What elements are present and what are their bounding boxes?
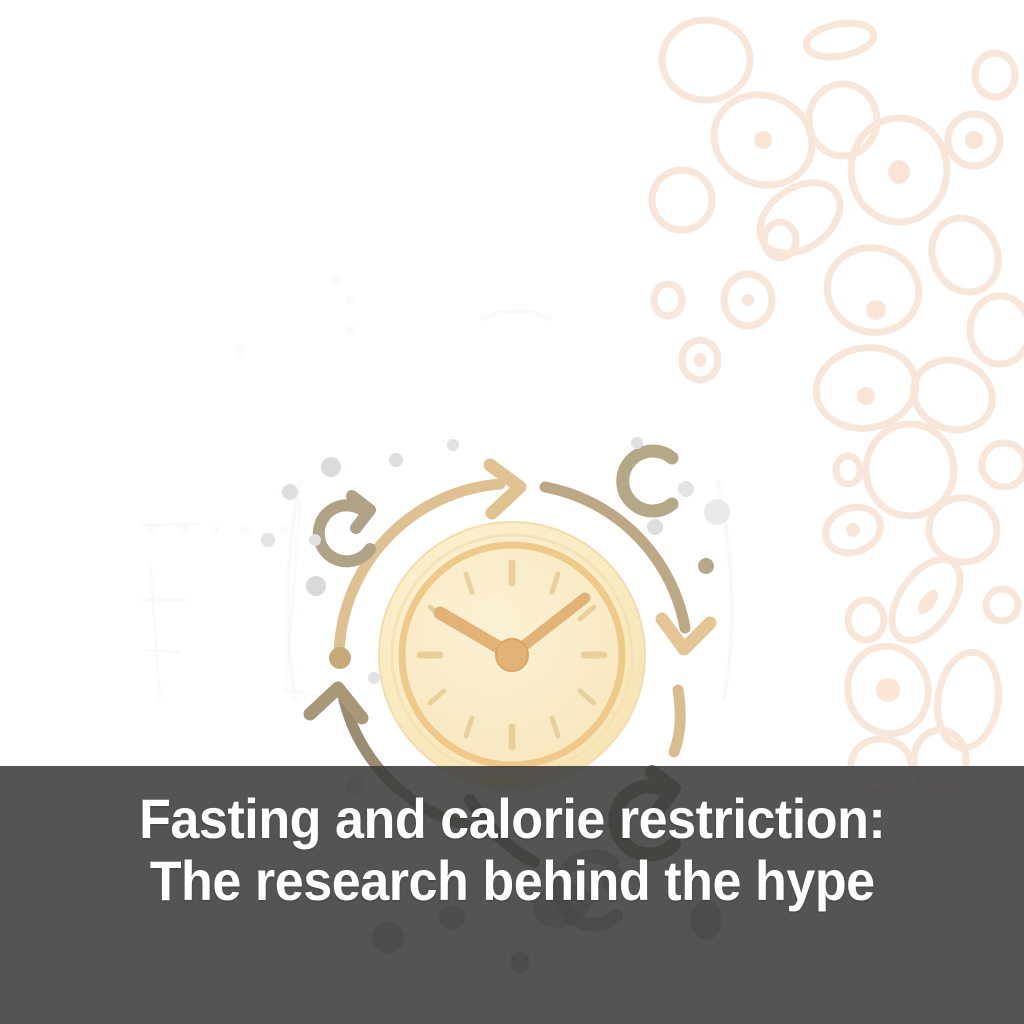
poster-canvas: Fasting and calorie restriction: The res… <box>0 0 1024 1024</box>
caption-overlay-bar: Fasting and calorie restriction: The res… <box>0 766 1024 1024</box>
page-title: Fasting and calorie restriction: The res… <box>139 788 885 912</box>
